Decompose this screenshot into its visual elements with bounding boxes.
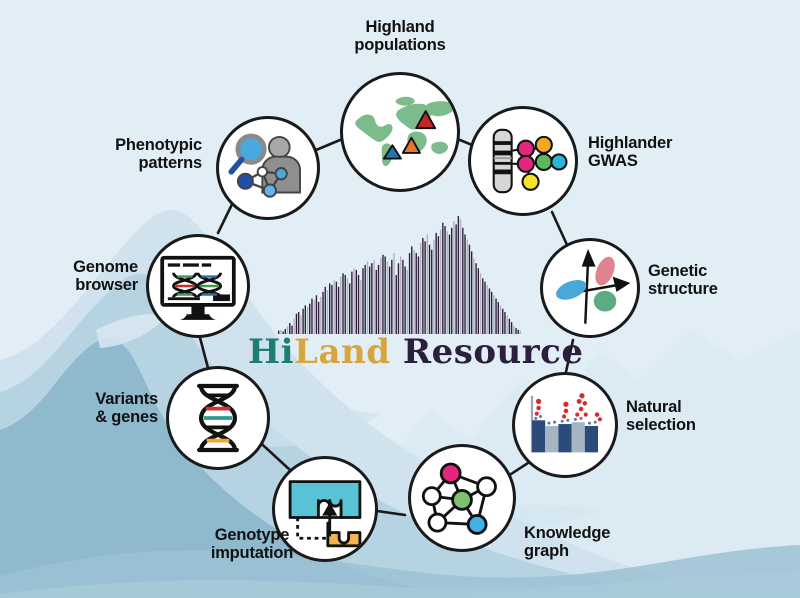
mountain-bar <box>347 278 348 334</box>
mountain-bar <box>447 231 448 334</box>
mountain-bar <box>444 226 445 334</box>
mountain-bar <box>298 312 299 334</box>
mountain-bar <box>418 256 419 334</box>
mountain-bar <box>305 305 306 334</box>
mountain-bar <box>333 280 334 334</box>
mountain-bar <box>464 235 465 334</box>
mountain-bar <box>489 288 490 334</box>
mountain-bar <box>309 304 310 334</box>
mountain-bar <box>409 253 410 334</box>
mountain-bar <box>498 302 499 334</box>
mountain-bar <box>491 292 492 334</box>
mountain-bar <box>451 228 452 334</box>
pca-scatter-icon <box>543 238 637 338</box>
mountain-bar <box>504 312 505 334</box>
figure-canvas: HiLand Resource Highland populations <box>0 0 800 598</box>
manhattan-plot-icon <box>515 372 615 478</box>
cluster-green <box>594 291 617 312</box>
mountain-bar <box>318 302 319 334</box>
mountain-bar <box>482 278 483 334</box>
mountain-bar <box>376 270 377 334</box>
mountain-bar <box>338 287 339 334</box>
gwas-node-pink-2 <box>518 156 534 172</box>
mountain-bar <box>469 245 470 334</box>
node-phenotypic-patterns[interactable] <box>216 116 320 220</box>
mountain-bar <box>349 283 350 334</box>
mountain-bar <box>373 260 374 334</box>
mountain-bar <box>396 275 397 334</box>
mountain-bar <box>475 263 476 334</box>
manhattan-columns <box>532 420 598 452</box>
mountain-bar <box>398 263 399 334</box>
mountain-bar <box>462 228 463 334</box>
mountain-bar <box>391 260 392 334</box>
mountain-bar <box>427 235 428 334</box>
mountain-bar <box>387 262 388 334</box>
mountain-bar <box>407 270 408 334</box>
mountain-bar <box>336 282 337 334</box>
mountain-bar <box>480 273 481 334</box>
loose-puzzle-piece <box>328 523 360 546</box>
mountain-bar <box>378 265 379 334</box>
mountain-bar <box>345 275 346 334</box>
mountain-bar <box>369 267 370 334</box>
significant-hits <box>535 393 602 421</box>
world-map-icon <box>343 72 457 192</box>
mountain-bar <box>331 285 332 334</box>
mountain-bar <box>393 253 394 334</box>
mountain-bar <box>342 273 343 334</box>
mountain-bar <box>358 275 359 334</box>
mountain-bar <box>433 240 434 334</box>
mountain-bar <box>431 250 432 334</box>
mountain-bar <box>435 233 436 334</box>
label-highland-populations: Highland populations <box>330 18 470 55</box>
mountain-bar <box>329 283 330 334</box>
title-part-hi: Hi <box>248 332 294 372</box>
label-natural-selection: Natural selection <box>626 398 786 435</box>
mountain-bar <box>411 246 412 334</box>
graph-node-white-1 <box>423 488 440 505</box>
mountain-bar <box>460 219 461 334</box>
dna-helix-icon <box>169 366 267 470</box>
node-natural-selection[interactable] <box>512 372 618 478</box>
mountain-bar <box>371 263 372 334</box>
mountain-bar <box>440 229 441 334</box>
node-highlander-gwas[interactable] <box>468 106 578 216</box>
mountain-bar <box>484 282 485 334</box>
graph-node-white-2 <box>429 514 446 531</box>
trait-node-white <box>258 167 267 176</box>
mountain-bar <box>478 268 479 334</box>
mountain-bar <box>362 268 363 334</box>
mountain-bar <box>380 258 381 334</box>
mountain-bar <box>416 253 417 334</box>
label-phenotypic-patterns: Phenotypic patterns <box>62 136 202 173</box>
mountain-bar <box>402 260 403 334</box>
mountain-bar <box>320 297 321 334</box>
chromosome-bar <box>494 130 512 192</box>
graph-node-green <box>453 490 472 509</box>
mountain-bar <box>400 256 401 334</box>
mountain-bar <box>296 314 297 334</box>
mountain-bar <box>453 221 454 334</box>
mountain-bar <box>356 270 357 334</box>
chromosome-icon <box>471 106 575 216</box>
page-title: HiLand Resource <box>248 332 584 372</box>
mountain-bar <box>316 295 317 334</box>
mountain-bar <box>327 290 328 334</box>
mountain-bar <box>367 262 368 334</box>
node-highland-populations[interactable] <box>340 72 460 192</box>
mountain-bar <box>307 307 308 334</box>
mountain-bar <box>413 250 414 334</box>
mountain-bar <box>493 295 494 334</box>
mountain-bar <box>382 255 383 334</box>
label-genetic-structure: Genetic structure <box>648 262 798 299</box>
mountain-bar <box>404 267 405 334</box>
mountain-bar <box>340 277 341 334</box>
mountain-bar <box>420 243 421 334</box>
barcode-mountain-graphic <box>278 212 522 334</box>
trait-node-blue-1 <box>276 168 287 179</box>
mountain-bar <box>495 299 496 334</box>
monitor-dna-icon <box>149 234 247 338</box>
mountain-bar <box>487 285 488 334</box>
mountain-bar <box>442 223 443 334</box>
monitor-base <box>179 314 217 320</box>
label-variants-genes: Variants & genes <box>46 390 158 427</box>
label-highlander-gwas: Highlander GWAS <box>588 134 758 171</box>
mountain-bar <box>351 272 352 334</box>
mountain-bar <box>429 245 430 334</box>
mountain-bar <box>422 238 423 334</box>
gwas-node-cyan <box>551 154 566 169</box>
label-genotype-imputation: Genotype imputation <box>176 526 328 563</box>
graph-node-white-3 <box>478 478 496 496</box>
trait-node-dark-blue <box>238 174 253 189</box>
gwas-node-pink-1 <box>518 141 534 157</box>
graph-node-blue <box>468 515 486 533</box>
network-graph-icon <box>411 444 513 552</box>
mountain-bar <box>365 265 366 334</box>
mountain-bar <box>438 236 439 334</box>
mountain-bar <box>500 305 501 334</box>
mountain-bar <box>467 240 468 334</box>
gwas-node-orange <box>536 137 552 153</box>
label-knowledge-graph: Knowledge graph <box>524 524 694 561</box>
node-genome-browser[interactable] <box>146 234 250 338</box>
person-head <box>269 137 290 158</box>
mountain-bar <box>502 309 503 334</box>
label-genome-browser: Genome browser <box>30 258 138 295</box>
mountain-bar <box>389 267 390 334</box>
gwas-node-green <box>536 154 552 170</box>
mountain-bar <box>325 287 326 334</box>
mountain-bar <box>353 268 354 334</box>
mountain-bar <box>424 241 425 334</box>
mountain-bar <box>313 300 314 334</box>
node-variants-genes[interactable] <box>166 366 270 470</box>
mountain-bar <box>473 258 474 334</box>
mountain-bar <box>471 251 472 334</box>
title-part-land: Land <box>294 332 390 372</box>
mountain-bar <box>322 292 323 334</box>
mountain-bar <box>458 216 459 334</box>
trait-node-blue-2 <box>264 184 276 196</box>
mountain-bar <box>449 235 450 334</box>
title-part-resource: Resource <box>390 332 583 372</box>
mountain-bar <box>455 224 456 334</box>
mountain-bar <box>302 309 303 334</box>
cluster-blue <box>553 276 589 304</box>
magnifier-person-icon <box>219 116 317 220</box>
mountain-bar <box>360 280 361 334</box>
node-knowledge-graph[interactable] <box>408 444 516 552</box>
mountain-bar <box>384 256 385 334</box>
mountain-bar <box>311 299 312 334</box>
graph-node-pink <box>441 464 460 483</box>
gwas-node-yellow <box>523 174 539 190</box>
node-genetic-structure[interactable] <box>540 238 640 338</box>
magnifying-glass <box>231 136 264 172</box>
